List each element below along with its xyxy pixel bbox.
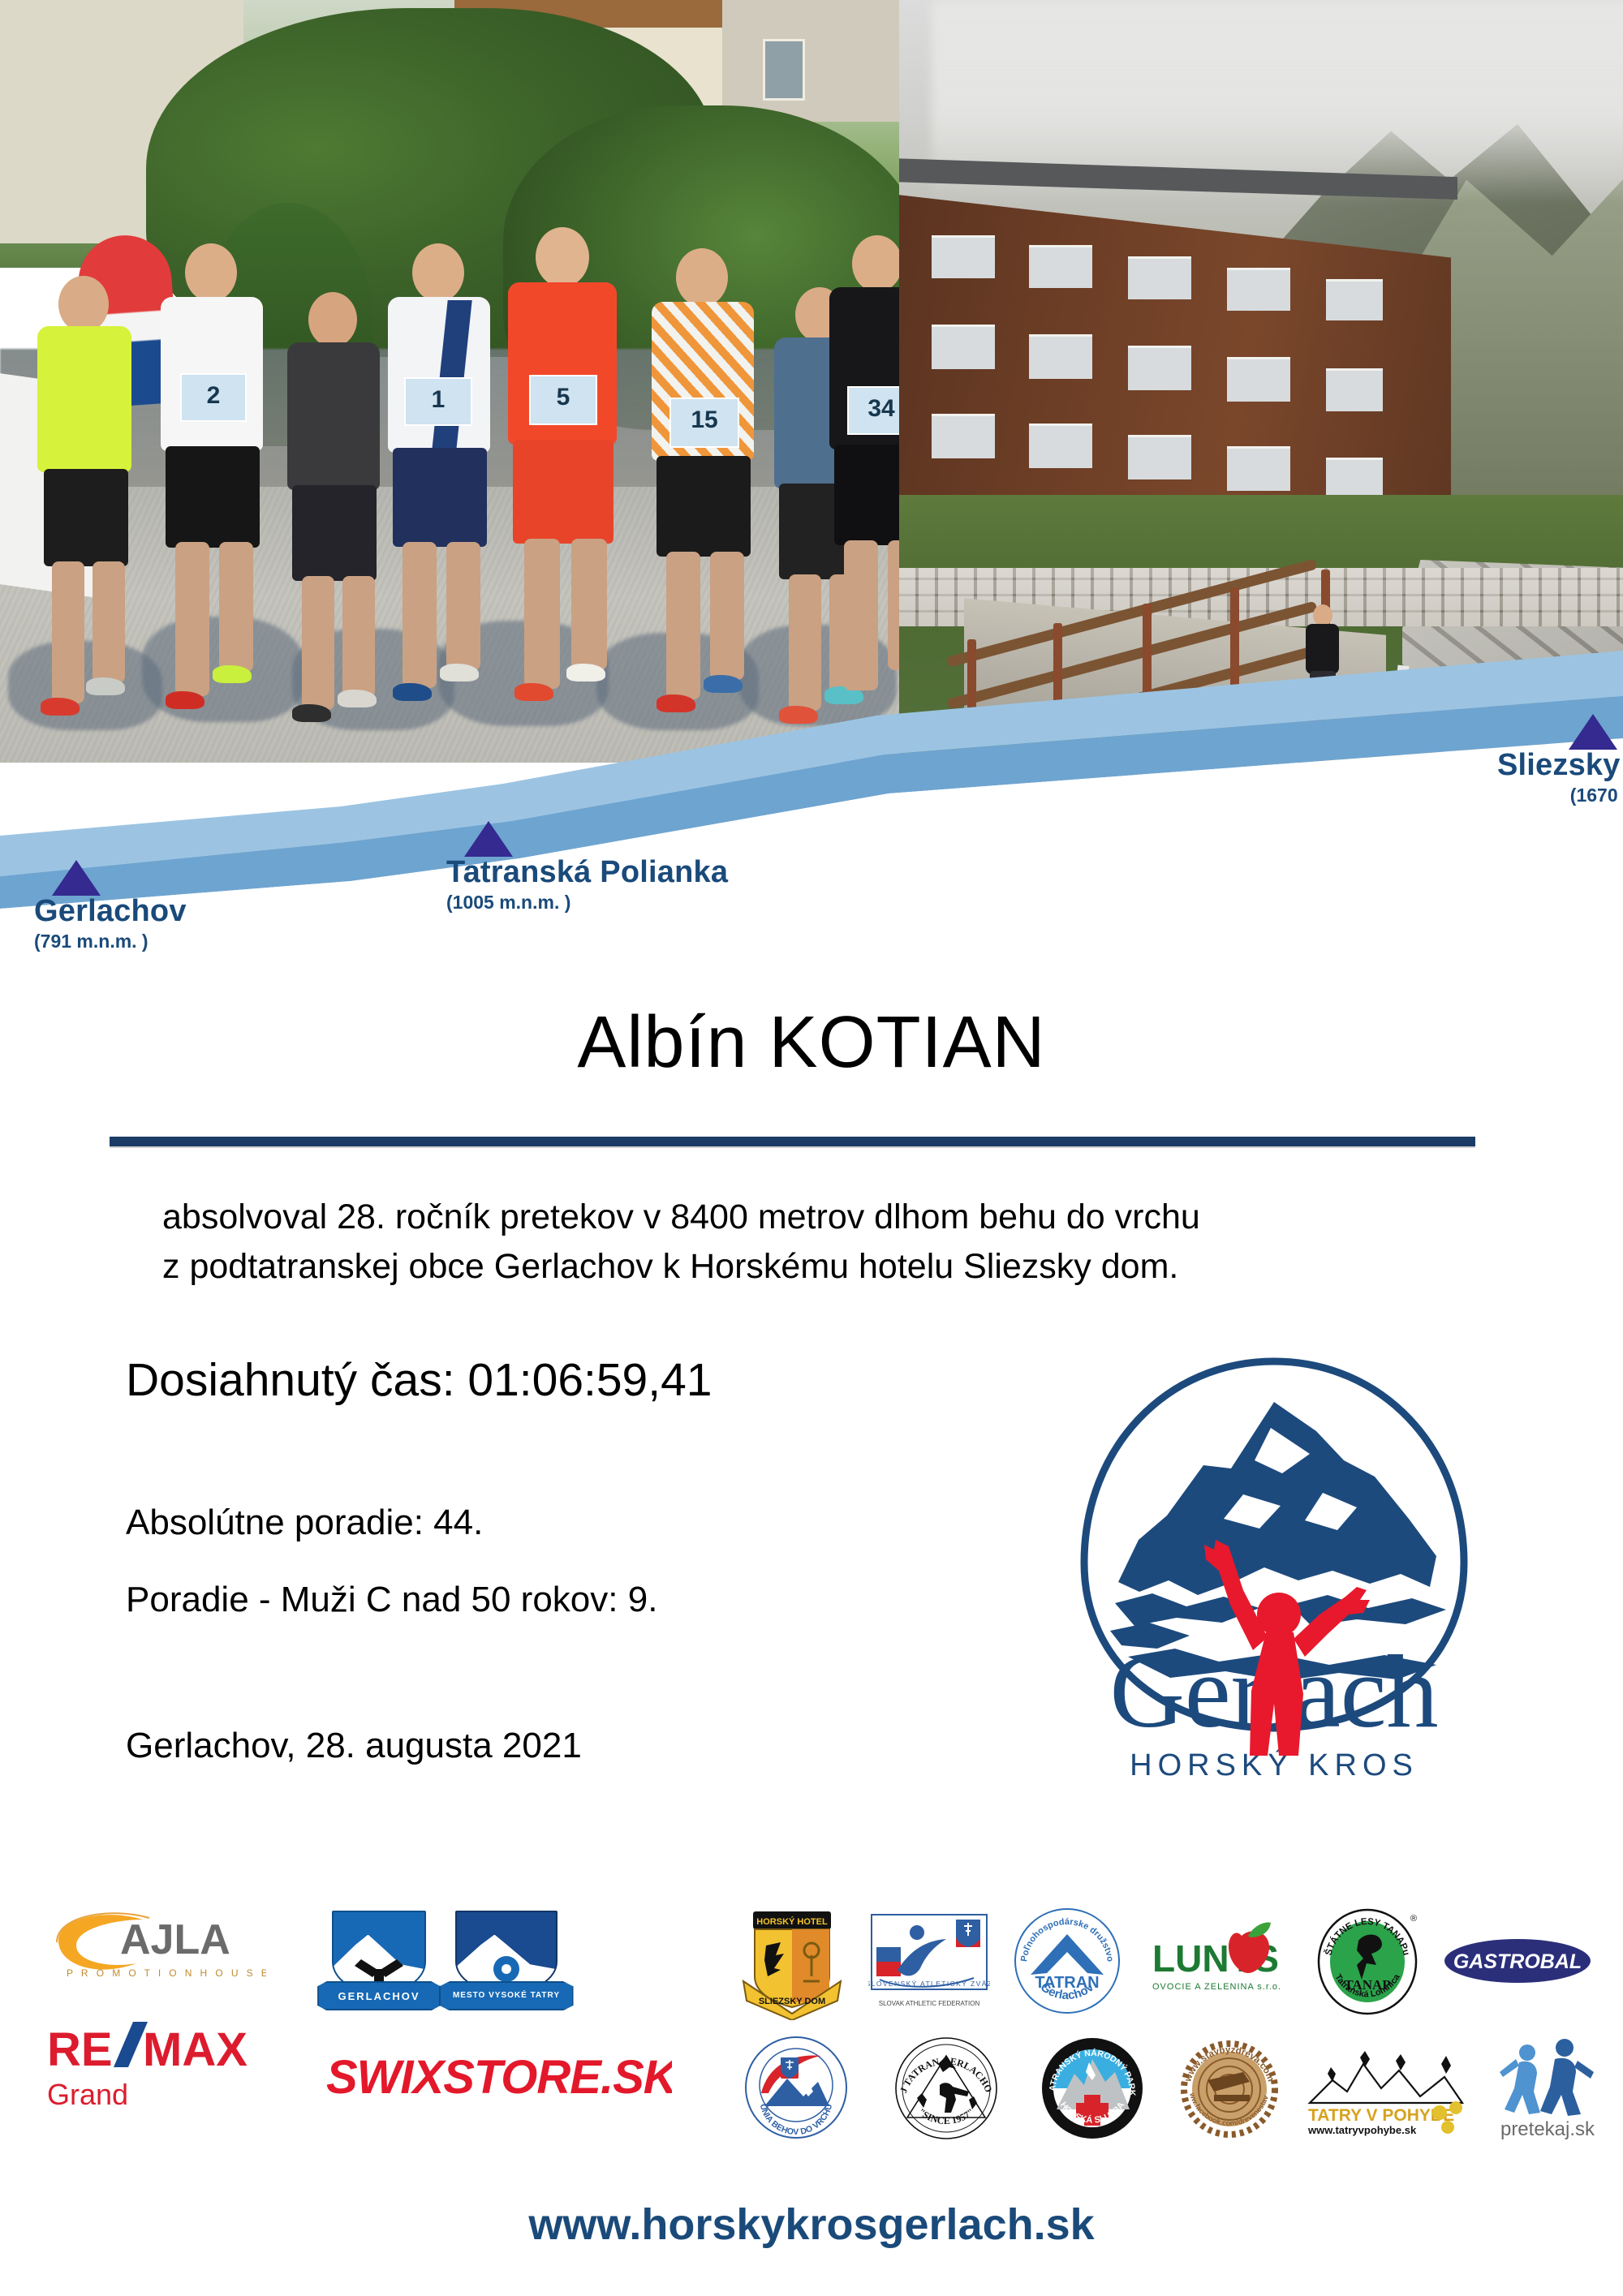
gerlach-horsky-kros-logo: Gerlach HORSKÝ KROS (1031, 1347, 1518, 1809)
svg-text:AJLA: AJLA (120, 1916, 230, 1963)
mountain-marker-icon (464, 821, 513, 857)
sponsor-ajla-sub: P R O M O T I O N H O U S E (67, 1967, 266, 1979)
overall-rank: Absolútne poradie: 44. (126, 1505, 483, 1541)
sponsor-tj-tatran: TJ TATRAN GERLACHOV "SINCE 1957" (893, 2035, 1000, 2142)
sponsor-pretekaj: pretekaj.sk (1487, 2038, 1608, 2140)
sponsor-pretekaj-label: pretekaj.sk (1500, 2118, 1595, 2140)
sponsor-lesy-tanapu: ŠTÁTNE LESY TANAPu TANAP Tatranská Lomni… (1311, 1905, 1423, 2017)
crest-ribbon-label: GERLACHOV (338, 1991, 420, 2001)
sponsor-horska-sluzba: TATRANSKÝ NÁRODNÝ PARK HORSKÁ SLUŽBA (1039, 2035, 1146, 2142)
elevation-point-name: Gerlachov (34, 896, 187, 927)
sponsor-tatran-gerlachov: Poľnohospodárske družstvo TATRAN Gerlach… (1013, 1907, 1122, 2016)
elevation-point-sliezsky-dom: Sliezsky dom (1670 m.n.m. ) (1497, 714, 1623, 805)
bib-number: 2 (180, 373, 247, 422)
sponsor-swixstore: SWIXSTORE.SK (323, 2044, 672, 2109)
sponsor-stavbyzdreva: www.stavbyzdreva.com www.facebook.com/dr… (1175, 2035, 1284, 2143)
mountain-marker-icon (52, 860, 101, 896)
elevation-point-name: Tatranská Polianka (446, 857, 728, 888)
sponsor-remax-sub: Grand (47, 2078, 128, 2111)
sponsor-saz-sub: SLOVAK ATHLETIC FEDERATION (879, 2000, 980, 2007)
mountain-marker-icon (1569, 714, 1617, 750)
elevation-profile-band (0, 633, 1623, 909)
elevation-point-name: Sliezsky dom (1497, 750, 1623, 780)
elevation-point-gerlachov: Gerlachov (791 m.n.m. ) (34, 860, 187, 951)
bib-number: 34 (847, 386, 899, 435)
elevation-point-altitude: (1670 m.n.m. ) (1497, 786, 1623, 805)
sponsor-gastrobal: GASTROBAL (1443, 1933, 1593, 1989)
sponsor-lunys-sub: OVOCIE A ZELENINA s.r.o. (1152, 1982, 1281, 1992)
bib-number: 5 (529, 375, 597, 425)
bib-number: 1 (404, 377, 472, 426)
race-description-line-1: absolvoval 28. ročník pretekov v 8400 me… (162, 1193, 1493, 1242)
svg-text:RE: RE (47, 2023, 113, 2076)
bib-number: 15 (669, 398, 739, 448)
elevation-point-altitude: (791 m.n.m. ) (34, 932, 187, 951)
sponsor-swixstore-label: SWIXSTORE.SK (326, 2051, 672, 2104)
sponsor-vysoke-tatry-crest: MESTO VYSOKÉ TATRY (448, 1905, 562, 2019)
finish-time: Dosiahnutý čas: 01:06:59,41 (126, 1357, 712, 1404)
race-description-line-2: z podtatranskej obce Gerlachov k Horském… (162, 1242, 1493, 1292)
title-divider (110, 1137, 1475, 1146)
sponsor-logos: AJLA P R O M O T I O N H O U S E RE MAX … (0, 1898, 1623, 2191)
sponsor-lunys: LUNYS OVOCIE A ZELENINA s.r.o. (1151, 1920, 1281, 2009)
elevation-point-altitude: (1005 m.n.m. ) (446, 893, 728, 912)
svg-text:MAX: MAX (143, 2023, 248, 2076)
sponsor-tatry-v-pohybe: TATRY V POHYBE www.tatryvpohybe.sk (1305, 2049, 1467, 2139)
category-rank: Poradie - Muži C nad 50 rokov: 9. (126, 1582, 657, 1618)
place-and-date: Gerlachov, 28. augusta 2021 (126, 1728, 582, 1764)
sponsor-remax: RE MAX Grand (47, 2020, 274, 2118)
sponsor-tatry-label: TATRY V POHYBE (1308, 2106, 1454, 2125)
svg-text:®: ® (1410, 1914, 1417, 1924)
race-description: absolvoval 28. ročník pretekov v 8400 me… (162, 1193, 1493, 1292)
athlete-name: Albín KOTIAN (0, 1006, 1623, 1079)
logo-subtitle: HORSKÝ KROS (1130, 1748, 1419, 1782)
certificate-body: Albín KOTIAN absolvoval 28. ročník prete… (0, 909, 1623, 1866)
sponsor-slovak-athletics: SLOVENSKÝ ATLETICKÝ ZVÄZ SLOVAK ATHLETIC… (868, 1911, 990, 2017)
sponsor-gastrobal-label: GASTROBAL (1453, 1950, 1582, 1973)
sponsor-sliezsky-dom-sub: SLIEZSKY DOM (759, 1997, 825, 2006)
elevation-point-tatranska-polianka: Tatranská Polianka (1005 m.n.m. ) (446, 821, 728, 912)
sponsor-gerlachov-crest: GERLACHOV (325, 1905, 430, 2019)
crest-ribbon-label: MESTO VYSOKÉ TATRY (453, 1992, 560, 2000)
sponsor-sliezsky-dom: HORSKÝ HOTEL SLIEZSKY DOM (738, 1907, 844, 2020)
footer-website-url: www.horskykrosgerlach.sk (0, 2203, 1623, 2247)
sponsor-saz-label: SLOVENSKÝ ATLETICKÝ ZVÄZ (868, 1980, 990, 1988)
sponsor-unia-behov: ÚNIA BEHOV DO VRCHU (743, 2035, 849, 2140)
sponsor-ajla: AJLA P R O M O T I O N H O U S E (47, 1905, 266, 1994)
sponsor-tatry-sub: www.tatryvpohybe.sk (1307, 2124, 1417, 2136)
sponsor-sliezsky-dom-label: HORSKÝ HOTEL (756, 1916, 828, 1927)
